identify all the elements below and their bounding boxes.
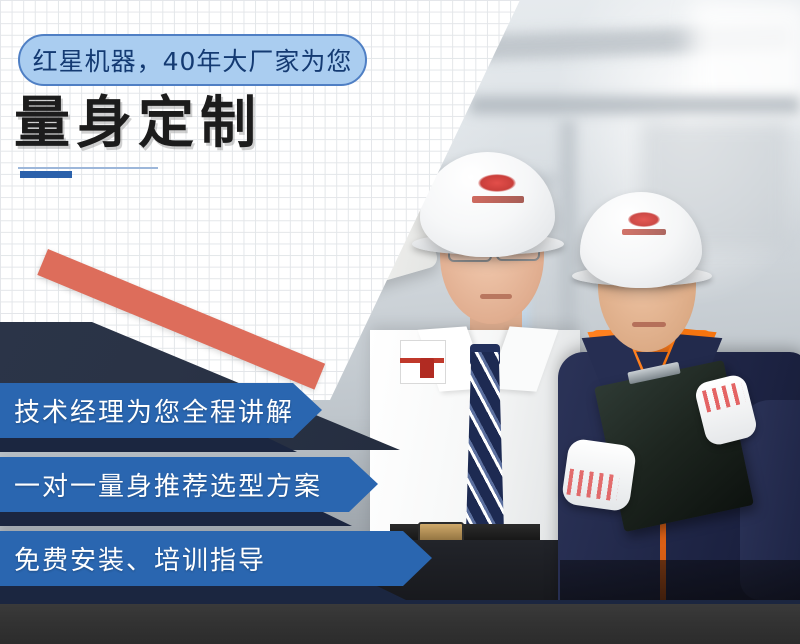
hardhat-logo-text [472, 196, 524, 203]
promo-banner: 红星机器，40年大厂家为您 量身定制 技术经理为您全程讲解 一对一量身推荐选型方… [0, 0, 800, 644]
mouth [632, 322, 666, 327]
footer-dark-strip [0, 604, 800, 644]
hardhat-logo-icon [628, 212, 660, 227]
feature-ribbon-3-label: 免费安装、培训指导 [0, 540, 266, 577]
tagline-badge: 红星机器，40年大厂家为您 [18, 34, 367, 86]
hardhat-logo-icon [478, 174, 516, 192]
title-underline-thin [18, 167, 158, 169]
ceiling-beam [470, 96, 800, 114]
feature-ribbon-2: 一对一量身推荐选型方案 [0, 457, 378, 512]
support-column [560, 120, 576, 350]
feature-ribbon-1-label: 技术经理为您全程讲解 [0, 392, 294, 429]
tagline-badge-text: 红星机器，40年大厂家为您 [33, 42, 353, 78]
feature-ribbon-3-shadow [0, 586, 406, 600]
page-title: 量身定制 [14, 96, 262, 152]
feature-ribbon-3: 免费安装、培训指导 [0, 531, 432, 586]
hardhat-logo-text [622, 229, 666, 235]
mouth [480, 294, 512, 299]
feature-ribbon-1: 技术经理为您全程讲解 [0, 383, 322, 438]
striped-necktie [466, 352, 504, 532]
badge-logo-mark [420, 358, 434, 378]
feature-ribbon-2-label: 一对一量身推荐选型方案 [0, 466, 322, 503]
title-underline-thick [20, 171, 72, 178]
feature-ribbon-1-shadow [0, 438, 297, 452]
feature-ribbon-2-shadow [0, 512, 352, 526]
